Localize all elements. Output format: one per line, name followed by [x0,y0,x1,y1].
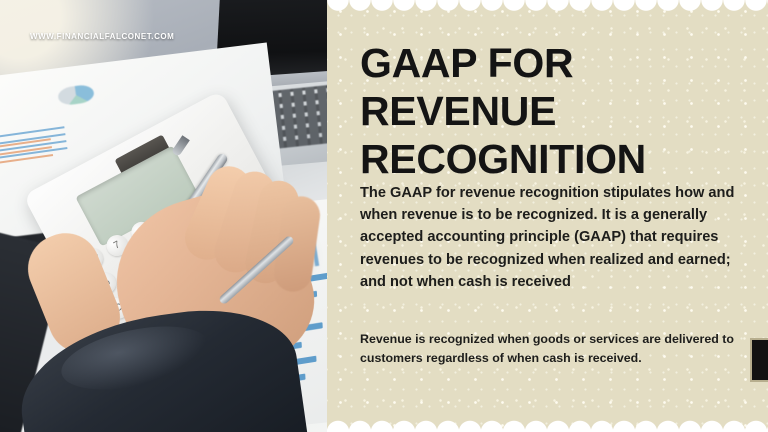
summary-paragraph: Revenue is recognized when goods or serv… [360,330,752,367]
accent-block [750,338,768,382]
scallop-border-bottom [327,416,768,432]
scallop-border-top [327,0,768,14]
intro-paragraph: The GAAP for revenue recognition stipula… [360,182,750,293]
content-panel: GAAP FOR REVENUE RECOGNITION The GAAP fo… [327,0,768,432]
slide-canvas: M+ 7 8 9 % 4 5 6 C 1 2 3 AC 0 00 = WWW.F… [0,0,768,432]
page-title: GAAP FOR REVENUE RECOGNITION [360,40,752,184]
site-watermark: WWW.FINANCIALFALCONET.COM [30,32,174,41]
hero-photo: M+ 7 8 9 % 4 5 6 C 1 2 3 AC 0 00 = WWW.F… [0,0,328,432]
